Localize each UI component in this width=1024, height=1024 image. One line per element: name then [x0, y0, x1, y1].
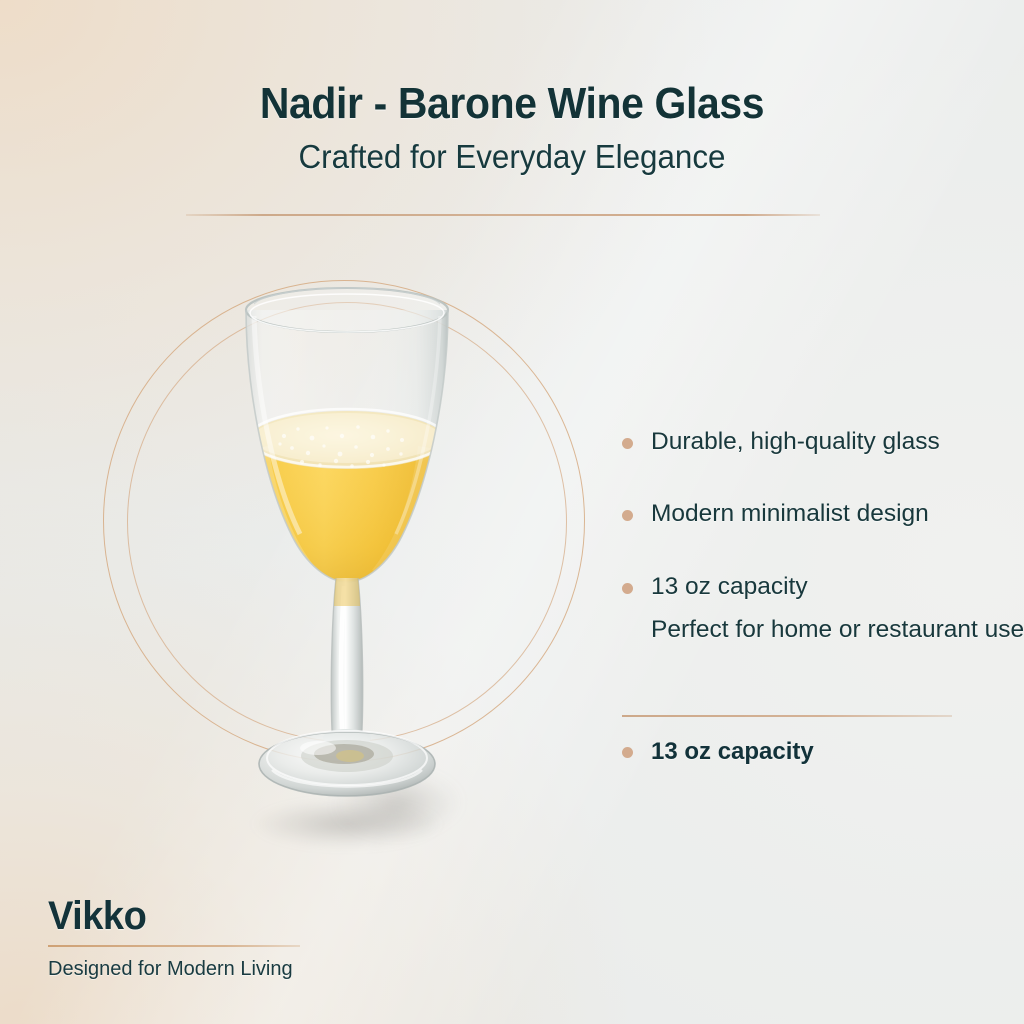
bullet-dot-icon: [622, 438, 633, 449]
feature-label: Modern minimalist design: [651, 500, 929, 527]
product-infographic: Nadir - Barone Wine Glass Crafted for Ev…: [0, 0, 1024, 1024]
bullet-dot-icon: [622, 583, 633, 594]
feature-list: Durable, high-quality glass Modern minim…: [622, 428, 1014, 689]
wine-glass-image: [232, 286, 462, 846]
list-item: Modern minimalist design: [622, 500, 1014, 527]
page-subtitle: Crafted for Everyday Elegance: [26, 140, 999, 173]
header-divider: [186, 214, 820, 216]
highlight-divider: [622, 715, 952, 717]
bullet-dot-icon: [622, 510, 633, 521]
highlight-item: 13 oz capacity: [622, 738, 814, 766]
brand-footer: Vikko Designed for Modern Living: [48, 896, 358, 981]
list-item: 13 oz capacity Perfect for home or resta…: [622, 573, 1014, 644]
page-title: Nadir - Barone Wine Glass: [36, 82, 988, 126]
feature-label: 13 oz capacity: [651, 573, 808, 600]
feature-label: Durable, high-quality glass: [651, 428, 940, 455]
glass-stem: [331, 578, 363, 732]
glass-bowl: [232, 288, 462, 588]
bullet-dot-icon: [622, 747, 633, 758]
brand-name: Vikko: [48, 896, 343, 936]
header: Nadir - Barone Wine Glass Crafted for Ev…: [0, 82, 1024, 173]
brand-divider: [48, 945, 300, 947]
glass-foot: [259, 729, 435, 796]
highlight-label: 13 oz capacity: [651, 738, 814, 766]
feature-sublabel: Perfect for home or restaurant use: [651, 616, 1024, 643]
list-item: Durable, high-quality glass: [622, 428, 1014, 455]
brand-tagline: Designed for Modern Living: [48, 958, 358, 981]
